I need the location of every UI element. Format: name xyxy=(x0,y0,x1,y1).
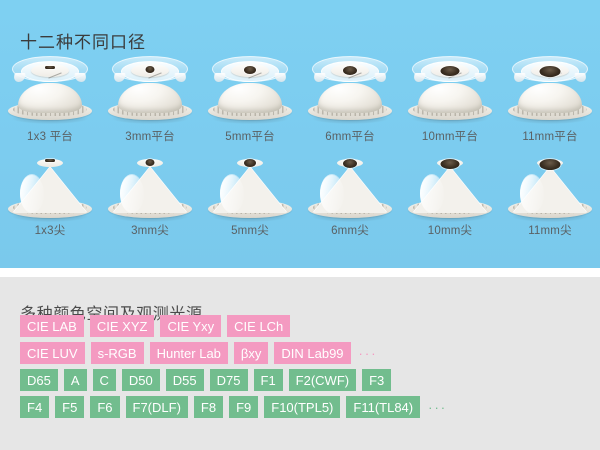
platform-cap-illustration xyxy=(4,52,96,126)
product-label: 3mm尖 xyxy=(100,222,200,238)
tag-f10-tpl5[interactable]: F10(TPL5) xyxy=(264,396,340,418)
illuminant-tag-row: D65ACD50D55D75F1F2(CWF)F3 xyxy=(20,369,585,391)
side-clip-left xyxy=(113,73,125,82)
tag-f4[interactable]: F4 xyxy=(20,396,49,418)
product-label: 11mm尖 xyxy=(500,222,600,238)
side-clip-left xyxy=(313,73,325,82)
product-item: 6mm尖 xyxy=(300,150,400,242)
tag-f7-dlf[interactable]: F7(DLF) xyxy=(126,396,188,418)
product-label: 1x3尖 xyxy=(0,222,100,238)
product-item: 10mm尖 xyxy=(400,150,500,242)
aperture-opening xyxy=(244,66,256,74)
side-clip-left xyxy=(213,73,225,82)
aperture-opening xyxy=(45,159,55,162)
cone-cap-illustration xyxy=(304,150,396,224)
aperture-section: 十二种不同口径 1x3 平台3mm平台5mm平台6mm平台10mm平台11mm平… xyxy=(0,0,600,268)
tag-f11-tl84[interactable]: F11(TL84) xyxy=(346,396,420,418)
cone-product-row: 1x3尖3mm尖5mm尖6mm尖10mm尖11mm尖 xyxy=(0,150,600,242)
side-clip-left xyxy=(13,73,25,82)
tag-list: CIE LABCIE XYZCIE YxyCIE LChCIE LUVs-RGB… xyxy=(20,315,585,423)
side-clip-right xyxy=(274,73,286,82)
tag-din-lab99[interactable]: DIN Lab99 xyxy=(274,342,350,364)
tag-hunter-lab[interactable]: Hunter Lab xyxy=(150,342,228,364)
product-item: 3mm平台 xyxy=(100,52,200,144)
product-label: 6mm平台 xyxy=(300,128,400,144)
cap-body xyxy=(13,167,87,213)
aperture-opening xyxy=(441,159,460,169)
product-item: 1x3 平台 xyxy=(0,52,100,144)
product-item: 5mm平台 xyxy=(200,52,300,144)
cap-body xyxy=(513,167,587,213)
cap-body xyxy=(113,167,187,213)
cone-cap-illustration xyxy=(4,150,96,224)
aperture-opening xyxy=(146,159,155,166)
aperture-opening xyxy=(45,66,55,69)
cap-body xyxy=(313,167,387,213)
product-label: 1x3 平台 xyxy=(0,128,100,144)
side-clip-left xyxy=(513,73,525,82)
tag-a[interactable]: A xyxy=(64,369,87,391)
cap-body xyxy=(518,83,582,113)
product-label: 3mm平台 xyxy=(100,128,200,144)
tag-f2-cwf[interactable]: F2(CWF) xyxy=(289,369,356,391)
product-item: 11mm尖 xyxy=(500,150,600,242)
tag-d55[interactable]: D55 xyxy=(166,369,204,391)
tag-d50[interactable]: D50 xyxy=(122,369,160,391)
tag-s-rgb[interactable]: s-RGB xyxy=(91,342,144,364)
tag-f5[interactable]: F5 xyxy=(55,396,84,418)
product-item: 1x3尖 xyxy=(0,150,100,242)
aperture-section-title: 十二种不同口径 xyxy=(20,28,146,53)
product-item: 5mm尖 xyxy=(200,150,300,242)
tag-xy[interactable]: βxy xyxy=(234,342,268,364)
tag-f6[interactable]: F6 xyxy=(90,396,119,418)
cap-body xyxy=(213,167,287,213)
platform-product-row: 1x3 平台3mm平台5mm平台6mm平台10mm平台11mm平台 xyxy=(0,52,600,144)
tag-f9[interactable]: F9 xyxy=(229,396,258,418)
illuminant-tag-row: F4F5F6F7(DLF)F8F9F10(TPL5)F11(TL84)··· xyxy=(20,396,585,418)
more-tags-ellipsis: ··· xyxy=(357,346,378,361)
product-label: 10mm平台 xyxy=(400,128,500,144)
tag-c[interactable]: C xyxy=(93,369,116,391)
colorspace-tag-row: CIE LABCIE XYZCIE YxyCIE LCh xyxy=(20,315,585,337)
more-tags-ellipsis: ··· xyxy=(426,400,447,415)
tag-cie-lab[interactable]: CIE LAB xyxy=(20,315,84,337)
side-clip-left xyxy=(413,73,425,82)
tag-cie-xyz[interactable]: CIE XYZ xyxy=(90,315,155,337)
tag-f3[interactable]: F3 xyxy=(362,369,391,391)
aperture-opening xyxy=(441,66,460,76)
aperture-opening xyxy=(343,66,357,75)
cap-body xyxy=(18,83,82,113)
side-clip-right xyxy=(374,73,386,82)
tag-cie-luv[interactable]: CIE LUV xyxy=(20,342,85,364)
tag-d65[interactable]: D65 xyxy=(20,369,58,391)
product-feature-page: 十二种不同口径 1x3 平台3mm平台5mm平台6mm平台10mm平台11mm平… xyxy=(0,0,600,450)
platform-cap-illustration xyxy=(104,52,196,126)
cap-body xyxy=(413,167,487,213)
side-clip-right xyxy=(174,73,186,82)
cone-cap-illustration xyxy=(204,150,296,224)
platform-cap-illustration xyxy=(204,52,296,126)
side-clip-right xyxy=(574,73,586,82)
aperture-opening xyxy=(540,66,561,77)
cap-body xyxy=(318,83,382,113)
product-item: 11mm平台 xyxy=(500,52,600,144)
colorspace-tag-row: CIE LUVs-RGBHunter LabβxyDIN Lab99··· xyxy=(20,342,585,364)
aperture-opening xyxy=(343,159,357,168)
product-item: 10mm平台 xyxy=(400,52,500,144)
platform-cap-illustration xyxy=(304,52,396,126)
product-label: 5mm尖 xyxy=(200,222,300,238)
product-label: 5mm平台 xyxy=(200,128,300,144)
product-item: 6mm平台 xyxy=(300,52,400,144)
tag-d75[interactable]: D75 xyxy=(210,369,248,391)
tag-cie-lch[interactable]: CIE LCh xyxy=(227,315,290,337)
tag-cie-yxy[interactable]: CIE Yxy xyxy=(160,315,221,337)
tag-f8[interactable]: F8 xyxy=(194,396,223,418)
cap-body xyxy=(418,83,482,113)
product-label: 6mm尖 xyxy=(300,222,400,238)
product-item: 3mm尖 xyxy=(100,150,200,242)
side-clip-right xyxy=(74,73,86,82)
aperture-opening xyxy=(146,66,155,73)
product-label: 10mm尖 xyxy=(400,222,500,238)
cap-body xyxy=(218,83,282,113)
aperture-opening xyxy=(244,159,256,167)
product-label: 11mm平台 xyxy=(500,128,600,144)
cone-cap-illustration xyxy=(104,150,196,224)
colorspace-section: 多种颜色空间及观测光源 CIE LABCIE XYZCIE YxyCIE LCh… xyxy=(0,277,600,450)
tag-f1[interactable]: F1 xyxy=(254,369,283,391)
cone-cap-illustration xyxy=(504,150,596,224)
platform-cap-illustration xyxy=(504,52,596,126)
cap-body xyxy=(118,83,182,113)
cone-cap-illustration xyxy=(404,150,496,224)
side-clip-right xyxy=(474,73,486,82)
platform-cap-illustration xyxy=(404,52,496,126)
aperture-opening xyxy=(540,159,561,170)
